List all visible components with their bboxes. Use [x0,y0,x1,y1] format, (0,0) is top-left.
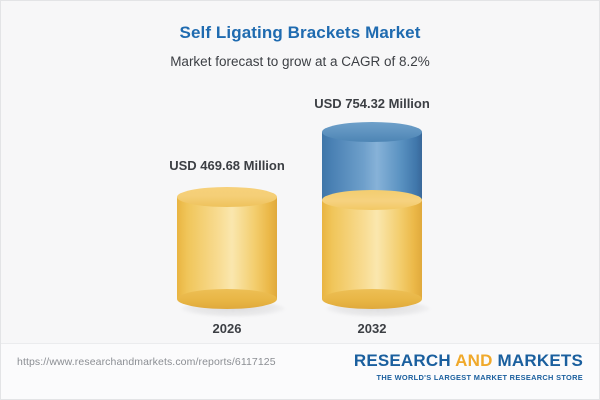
chart-card: Self Ligating Brackets Market Market for… [0,0,600,400]
cylinder-top-cap-2026 [177,187,277,207]
cylinder-top-cap-2032 [322,122,422,142]
plot-area: USD 469.68 Million 2026 USD 754.32 Milli… [1,86,599,336]
cylinder-seam-cap-2032 [322,190,422,210]
cylinder-2026[interactable] [177,187,277,309]
research-and-markets-logo[interactable]: RESEARCH AND MARKETS THE WORLD'S LARGEST… [354,352,583,381]
cylinder-bottom-cap-2032 [322,289,422,309]
category-label-2026: 2026 [147,321,307,336]
value-label-2032: USD 754.32 Million [292,96,452,111]
chart-header: Self Ligating Brackets Market Market for… [1,1,599,69]
bar-group-2026: USD 469.68 Million 2026 [147,86,307,336]
source-url[interactable]: https://www.researchandmarkets.com/repor… [17,356,276,368]
logo-word-markets: MARKETS [498,351,583,370]
logo-tagline: THE WORLD'S LARGEST MARKET RESEARCH STOR… [354,369,583,381]
logo-word-and: AND [455,351,492,370]
chart-title: Self Ligating Brackets Market [1,23,599,43]
logo-word-research: RESEARCH [354,351,451,370]
cylinder-bottom-cap-2026 [177,289,277,309]
bar-group-2032: USD 754.32 Million 2032 [292,86,452,336]
chart-footer: https://www.researchandmarkets.com/repor… [1,343,599,399]
logo-wordmark: RESEARCH AND MARKETS [354,352,583,369]
cylinder-segment-base-2026 [177,197,277,299]
category-label-2032: 2032 [292,321,452,336]
cylinder-2032[interactable] [322,122,422,309]
chart-subtitle: Market forecast to grow at a CAGR of 8.2… [1,43,599,69]
cylinder-segment-base-2032 [322,197,422,299]
value-label-2026: USD 469.68 Million [147,158,307,173]
